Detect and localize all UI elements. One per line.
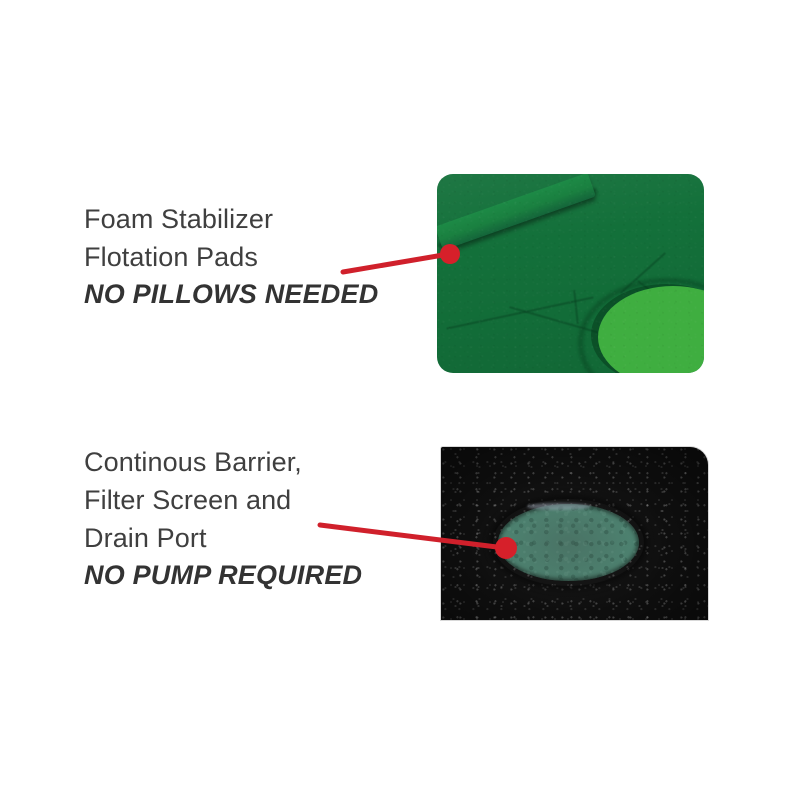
callout-drain-line-1: Continous Barrier,: [84, 443, 362, 481]
callout-drain-port-text: Continous Barrier, Filter Screen and Dra…: [84, 443, 362, 593]
feature-callout-canvas: Foam Stabilizer Flotation Pads NO PILLOW…: [0, 0, 800, 800]
foam-stabilizer-photo: [437, 174, 704, 373]
drain-port-photo: [441, 447, 708, 620]
callout-drain-emphasis: NO PUMP REQUIRED: [84, 557, 362, 593]
callout-foam-stabilizer-text: Foam Stabilizer Flotation Pads NO PILLOW…: [84, 200, 378, 312]
photo-grain-overlay: [437, 174, 704, 373]
callout-foam-line-2: Flotation Pads: [84, 238, 378, 276]
callout-drain-line-3: Drain Port: [84, 519, 362, 557]
leader-lines-layer: [0, 0, 800, 800]
callout-foam-emphasis: NO PILLOWS NEEDED: [84, 276, 378, 312]
callout-drain-line-2: Filter Screen and: [84, 481, 362, 519]
callout-foam-line-1: Foam Stabilizer: [84, 200, 378, 238]
photo-vignette-overlay: [441, 447, 708, 620]
